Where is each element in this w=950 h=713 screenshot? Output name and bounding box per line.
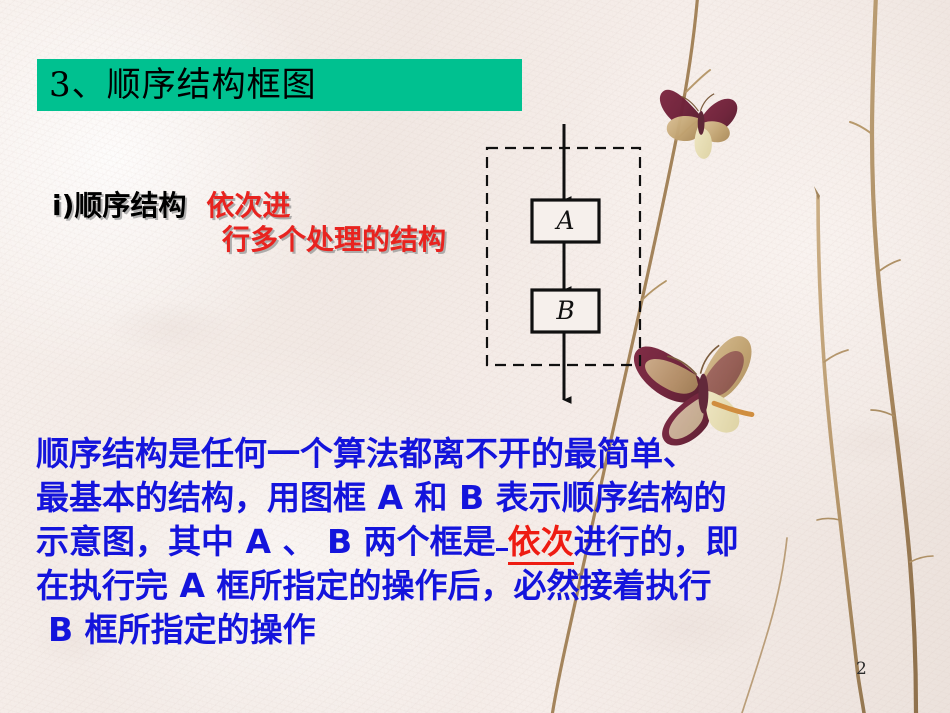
body-line-3-part-2: 进行的，即 — [574, 522, 739, 561]
body-line-4: 在执行完 A 框所指定的操作后，必然接着执行 — [36, 564, 926, 608]
body-line-3: 示意图，其中 A 、 B 两个框是依次进行的，即 — [36, 520, 926, 564]
subtitle-line-2: 行多个处理的结构 — [52, 223, 452, 257]
subtitle-emphasis-part-1: 依次进 — [206, 189, 290, 222]
body-emphasis-yici: 依次 — [508, 522, 574, 565]
page-title: 3、顺序结构框图 — [37, 68, 317, 102]
subtitle-label-sequential-structure: i)顺序结构 — [52, 189, 186, 222]
flow-box-b-label: B — [555, 296, 574, 325]
subtitle-block: i)顺序结构依次进 行多个处理的结构 — [52, 189, 452, 257]
body-paragraph: 顺序结构是任何一个算法都离不开的最简单、 最基本的结构，用图框 A 和 B 表示… — [36, 432, 926, 652]
butterfly-small — [659, 80, 744, 163]
subtitle-emphasis-part-2: 行多个处理的结构 — [222, 223, 446, 256]
body-line-2: 最基本的结构，用图框 A 和 B 表示顺序结构的 — [36, 476, 926, 520]
body-line-3-part-1: 示意图，其中 A 、 B 两个框是 — [36, 522, 496, 561]
body-line-5: B 框所指定的操作 — [36, 608, 926, 652]
title-banner: 3、顺序结构框图 — [37, 59, 522, 111]
body-line-3-blue-rule — [496, 548, 508, 551]
page-number: 2 — [856, 659, 867, 679]
slide-canvas: 3、顺序结构框图 i)顺序结构依次进 行多个处理的结构 A B — [0, 0, 950, 713]
flow-box-a-label: A — [554, 206, 574, 235]
body-line-1: 顺序结构是任何一个算法都离不开的最简单、 — [36, 432, 926, 476]
sequence-structure-flowchart: A B — [470, 112, 670, 412]
subtitle-line-1: i)顺序结构依次进 — [52, 189, 452, 223]
